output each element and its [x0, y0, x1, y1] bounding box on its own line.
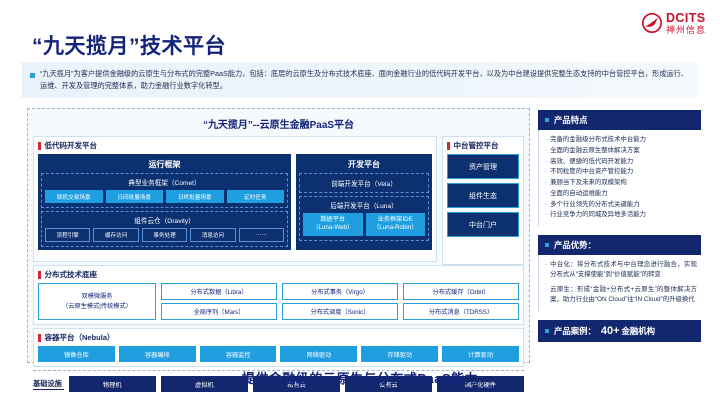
container-cell-orchestration[interactable]: 容器编排	[119, 346, 196, 362]
foundation-cell-sonic[interactable]: 分布式调度（Sonic）	[282, 303, 398, 320]
container-cell-monitoring[interactable]: 容器监控	[200, 346, 277, 362]
component-cloud-group: 组件云仓（Gravity） 流程引擎 缓存访问 事务处理 消息访问 ……	[41, 211, 288, 247]
list-item: ·全面的自动运维能力	[545, 189, 697, 200]
midplatform-section-label: 中台管控平台	[454, 140, 499, 151]
midplatform-item-asset-management[interactable]: 资产管理	[447, 154, 519, 179]
foundation-column-3: 分布式缓存（Orbit） 分布式消息（TDRSS）	[403, 283, 519, 320]
dot-icon: ·	[545, 189, 547, 200]
lowcode-section-header: 低代码开发平台	[38, 140, 432, 151]
list-item: ·中台化：将分布式技术与中台理念进行融合，实现分布式从“支撑使能”到“价值赋能”…	[545, 260, 697, 281]
runtime-framework-panel[interactable]: 运行框架 典型业务框架（Comet） 联机交易场景 日间批量场景 日终批量场景 …	[38, 154, 291, 250]
summary-band: “九天揽月”为客户提供金融级的云原生与分布式的完整PaaS能力，包括：底层的云原…	[22, 62, 698, 98]
square-bullet-icon	[545, 118, 549, 122]
foundation-cell-mars[interactable]: 全局序列（Mars）	[161, 303, 277, 320]
foundation-column-1: 分布式数据（Libra） 全局序列（Mars）	[161, 283, 277, 320]
chip-cache-access[interactable]: 缓存访问	[93, 228, 138, 242]
square-bullet-icon	[545, 329, 549, 333]
chip-intraday-batch[interactable]: 日间批量场景	[106, 190, 164, 203]
foundation-cell-virgo[interactable]: 分布式事务（Virgo）	[282, 283, 398, 300]
chip-transaction-processing[interactable]: 事务处理	[142, 228, 187, 242]
summary-text: “九天揽月”为客户提供金融级的云原生与分布式的完整PaaS能力，包括：底层的云原…	[40, 68, 688, 91]
container-grid: 镜像仓库 容器编排 容器监控 网络驱动 存储驱动 计算驱动	[38, 346, 519, 362]
list-item: ·高效、便捷的低代码开发能力	[545, 157, 697, 168]
brand-logo: DCITS 神州信息	[642, 12, 706, 35]
foundation-cell-orbit[interactable]: 分布式缓存（Orbit）	[403, 283, 519, 300]
business-framework-chips: 联机交易场景 日间批量场景 日终批量场景 定时任务	[45, 190, 284, 203]
advantage-text: 云原生：形成“金融+分布式+云原生”的整体解决方案，助力行业由“ON Cloud…	[550, 285, 697, 306]
feature-text: 全面的自动运维能力	[550, 189, 608, 200]
container-section-header: 容器平台（Nebula）	[38, 332, 519, 343]
midplatform-item-portal[interactable]: 中台门户	[447, 212, 519, 237]
frontend-platform-label: 前端开发平台（Vela）	[303, 178, 425, 188]
right-rail: 产品特点 ·完备的金融级分布式技术中台能力 ·全面的金融云原生整体解决方案 ·高…	[538, 110, 701, 342]
lowcode-section-label: 低代码开发平台	[45, 140, 98, 151]
container-section-label: 容器平台（Nebula）	[45, 332, 115, 343]
chip-scheduled-task[interactable]: 定时任务	[227, 190, 285, 203]
business-framework-caption: 典型业务框架（Comet）	[45, 177, 284, 190]
red-bar-icon	[38, 334, 41, 342]
feature-text: 兼顾当下及未来的双模架构	[550, 178, 627, 189]
feature-text: 完备的金融级分布式技术中台能力	[550, 135, 646, 146]
feature-text: 全面的金融云原生整体解决方案	[550, 146, 639, 157]
dcits-swoosh-logo-icon	[642, 13, 662, 33]
product-case-title: 产品案例：	[554, 325, 596, 337]
brand-name-cn: 神州信息	[666, 26, 706, 35]
chip-more[interactable]: ……	[239, 228, 284, 242]
product-advantages-list: ·中台化：将分布式技术与中台理念进行融合，实现分布式从“支撑使能”到“价值赋能”…	[538, 255, 701, 311]
feature-text: 行业竞争力的同城及异地多活能力	[550, 210, 646, 221]
midplatform-section: 中台管控平台 资产管理 组件生态 中台门户	[442, 136, 524, 265]
foundation-section: 分布式技术底座 双模微服务 （云原生模式|传统模式） 分布式数据（Libra） …	[33, 265, 524, 325]
foundation-grid: 双模微服务 （云原生模式|传统模式） 分布式数据（Libra） 全局序列（Mar…	[38, 283, 519, 320]
page-title: “九天揽月”技术平台	[32, 30, 226, 60]
foundation-section-header: 分布式技术底座	[38, 269, 519, 280]
container-cell-image-registry[interactable]: 镜像仓库	[38, 346, 115, 362]
list-item: ·不同粒度的中台资产管控能力	[545, 167, 697, 178]
container-cell-network-driver[interactable]: 网络驱动	[280, 346, 357, 362]
dot-icon: ·	[545, 146, 547, 157]
feature-text: 高效、便捷的低代码开发能力	[550, 157, 633, 168]
chip-online-transaction[interactable]: 联机交易场景	[45, 190, 103, 203]
product-features-header: 产品特点	[538, 110, 701, 130]
list-item: ·多个行业领先的分布式关键能力	[545, 200, 697, 211]
product-features-list: ·完备的金融级分布式技术中台能力 ·全面的金融云原生整体解决方案 ·高效、便捷的…	[538, 130, 701, 226]
foundation-column-2: 分布式事务（Virgo） 分布式调度（Sonic）	[282, 283, 398, 320]
foundation-cell-tdrss[interactable]: 分布式消息（TDRSS）	[403, 303, 519, 320]
product-features-card: 产品特点 ·完备的金融级分布式技术中台能力 ·全面的金融云原生整体解决方案 ·高…	[538, 110, 701, 226]
dot-icon: ·	[545, 135, 547, 146]
foundation-section-label: 分布式技术底座	[45, 269, 98, 280]
red-bar-icon	[447, 142, 450, 150]
development-platform-title: 开发平台	[299, 157, 429, 173]
product-case-suffix: 金融机构	[622, 325, 656, 337]
brand-name-en: DCITS	[666, 12, 706, 25]
red-bar-icon	[38, 271, 41, 279]
advantage-text: 中台化：将分布式技术与中台理念进行融合，实现分布式从“支撑使能”到“价值赋能”的…	[550, 260, 697, 281]
dot-icon: ·	[545, 285, 547, 306]
product-case-number: 40+	[601, 325, 620, 337]
feature-text: 多个行业领先的分布式关键能力	[550, 200, 639, 211]
dot-icon: ·	[545, 200, 547, 211]
container-section: 容器平台（Nebula） 镜像仓库 容器编排 容器监控 网络驱动 存储驱动 计算…	[33, 328, 524, 367]
dot-icon: ·	[545, 157, 547, 168]
dot-icon: ·	[545, 178, 547, 189]
chip-process-engine[interactable]: 流程引擎	[45, 228, 90, 242]
list-item: ·全面的金融云原生整体解决方案	[545, 146, 697, 157]
foundation-dual-mode-microservice[interactable]: 双模微服务 （云原生模式|传统模式）	[38, 283, 156, 320]
chip-luna-robin[interactable]: 业务框架IDE （Luna-Robin）	[366, 213, 426, 236]
midplatform-item-component-ecosystem[interactable]: 组件生态	[447, 183, 519, 208]
list-item: ·云原生：形成“金融+分布式+云原生”的整体解决方案，助力行业由“ON Clou…	[545, 285, 697, 306]
diagram-title: “九天揽月”--云原生金融PaaS平台	[33, 113, 524, 136]
product-advantages-card: 产品优势： ·中台化：将分布式技术与中台理念进行融合，实现分布式从“支撑使能”到…	[538, 235, 701, 311]
component-cloud-caption: 组件云仓（Gravity）	[45, 215, 284, 228]
foundation-cell-libra[interactable]: 分布式数据（Libra）	[161, 283, 277, 300]
runtime-framework-title: 运行框架	[41, 157, 288, 173]
product-features-title: 产品特点	[554, 114, 588, 126]
backend-platform-caption: 后端开发平台（Luna）	[303, 200, 425, 213]
footer-tagline: 提供金融级的云原生与分布式PaaS能力	[0, 368, 720, 387]
dot-icon: ·	[545, 260, 547, 281]
dot-icon: ·	[545, 167, 547, 178]
frontend-platform-group: 前端开发平台（Vela）	[299, 173, 429, 193]
development-platform-panel[interactable]: 开发平台 前端开发平台（Vela） 后端开发平台（Luna） 数据平台 （Lun…	[296, 154, 432, 250]
list-item: ·完备的金融级分布式技术中台能力	[545, 135, 697, 146]
product-advantages-header: 产品优势：	[538, 235, 701, 255]
lowcode-section: 低代码开发平台 运行框架 典型业务框架（Comet） 联机交易场景 日间批量场景…	[33, 136, 437, 262]
feature-text: 不同粒度的中台资产管控能力	[550, 167, 633, 178]
container-cell-storage-driver[interactable]: 存储驱动	[361, 346, 438, 362]
product-advantages-title: 产品优势：	[554, 239, 596, 251]
chip-luna-web[interactable]: 数据平台 （Luna-Web）	[303, 213, 363, 236]
list-item: ·兼顾当下及未来的双模架构	[545, 178, 697, 189]
square-bullet-icon	[545, 243, 549, 247]
chip-message-access[interactable]: 消息访问	[190, 228, 235, 242]
architecture-diagram: “九天揽月”--云原生金融PaaS平台 低代码开发平台 运行框架 典型业务框架（…	[27, 108, 530, 363]
business-framework-group: 典型业务框架（Comet） 联机交易场景 日间批量场景 日终批量场景 定时任务	[41, 173, 288, 208]
list-item: ·行业竞争力的同城及异地多活能力	[545, 210, 697, 221]
backend-platform-group: 后端开发平台（Luna） 数据平台 （Luna-Web） 业务框架IDE （Lu…	[299, 196, 429, 241]
chip-eod-batch[interactable]: 日终批量场景	[166, 190, 224, 203]
red-bar-icon	[38, 142, 41, 150]
square-bullet-icon	[30, 73, 35, 78]
dot-icon: ·	[545, 210, 547, 221]
backend-platform-chips: 数据平台 （Luna-Web） 业务框架IDE （Luna-Robin）	[303, 213, 425, 236]
product-case-bar: 产品案例： 40+ 金融机构	[538, 320, 701, 342]
component-cloud-chips: 流程引擎 缓存访问 事务处理 消息访问 ……	[45, 228, 284, 242]
midplatform-section-header: 中台管控平台	[447, 140, 519, 151]
container-cell-compute-driver[interactable]: 计算驱动	[442, 346, 519, 362]
